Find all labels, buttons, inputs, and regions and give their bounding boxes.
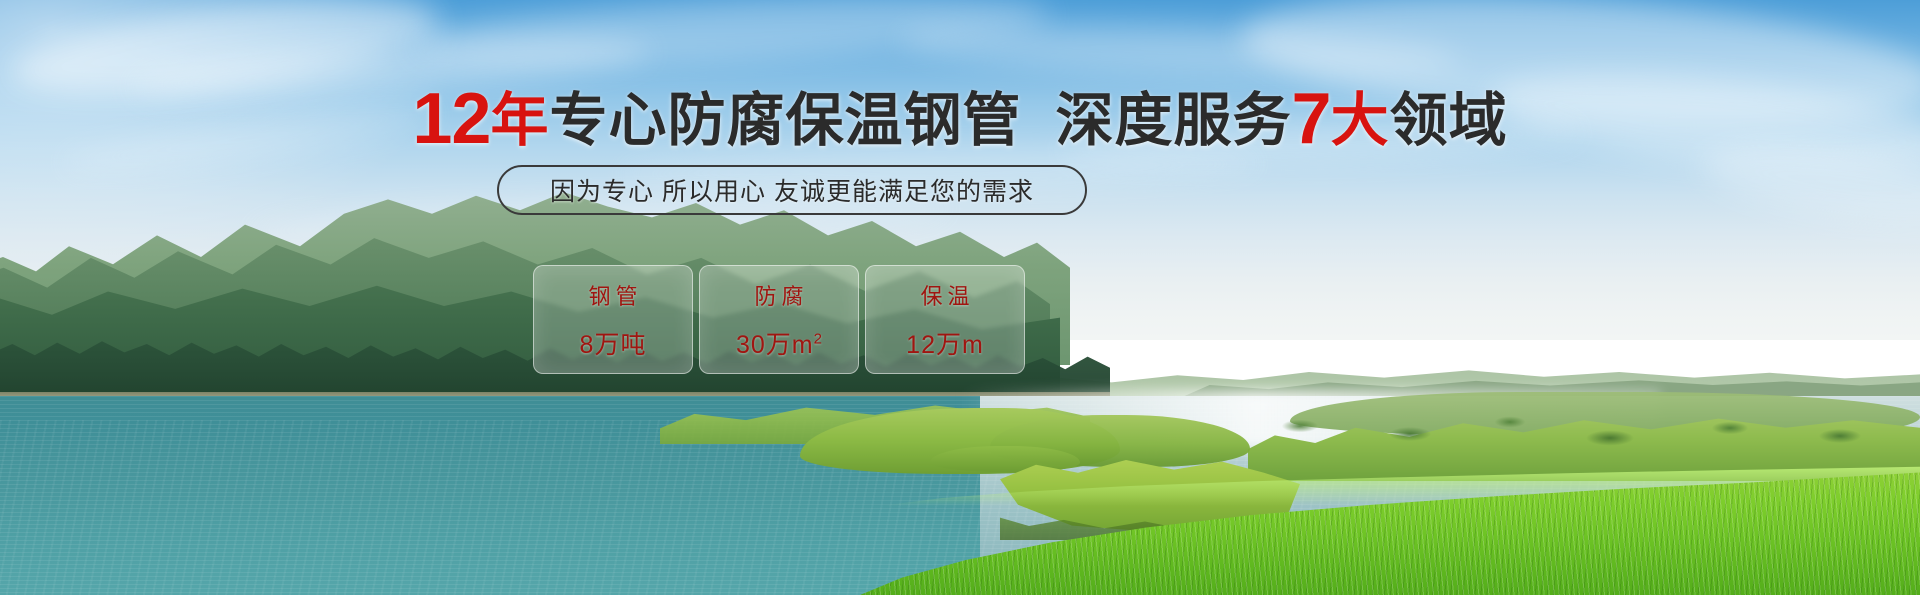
banner-headline: 12年专心防腐保温钢管深度服务7大领域 [0, 88, 1920, 152]
stat-card-value: 30万m2 [736, 325, 822, 361]
stat-card-steel-pipe: 钢管 8万吨 [533, 265, 693, 374]
headline-segment-one: 专心防腐保温钢管 [550, 88, 1022, 153]
stat-card-anticorrosion: 防腐 30万m2 [699, 265, 859, 374]
grass-island [930, 446, 1080, 472]
stat-card-value: 8万吨 [580, 325, 647, 361]
stat-card-value-superscript: 2 [814, 330, 822, 347]
stat-card-label: 钢管 [583, 279, 642, 311]
hero-banner: 12年专心防腐保温钢管深度服务7大领域 因为专心 所以用心 友诚更能满足您的需求… [0, 0, 1920, 595]
headline-fields-number: 7 [1292, 79, 1331, 159]
stat-card-value-text: 12万m [906, 331, 984, 359]
stat-card-label: 保温 [915, 279, 974, 311]
headline-fields-unit: 大 [1331, 88, 1390, 153]
headline-years-unit: 年 [490, 88, 549, 153]
stat-card-label: 防腐 [749, 279, 808, 311]
banner-subtitle-text: 因为专心 所以用心 友诚更能满足您的需求 [550, 172, 1034, 208]
marshland-tufts [1260, 408, 1920, 466]
headline-years-number: 12 [412, 79, 490, 159]
headline-segment-two: 深度服务 [1056, 88, 1292, 153]
banner-subtitle-pill: 因为专心 所以用心 友诚更能满足您的需求 [497, 165, 1087, 215]
stat-card-value-text: 8万吨 [580, 331, 647, 359]
stat-card-value-text: 30万m [736, 331, 814, 359]
stat-card-value: 12万m [906, 325, 984, 361]
stat-card-insulation: 保温 12万m [865, 265, 1025, 374]
headline-segment-three: 领域 [1390, 88, 1508, 153]
stat-card-group: 钢管 8万吨 防腐 30万m2 保温 12万m [533, 265, 1025, 374]
